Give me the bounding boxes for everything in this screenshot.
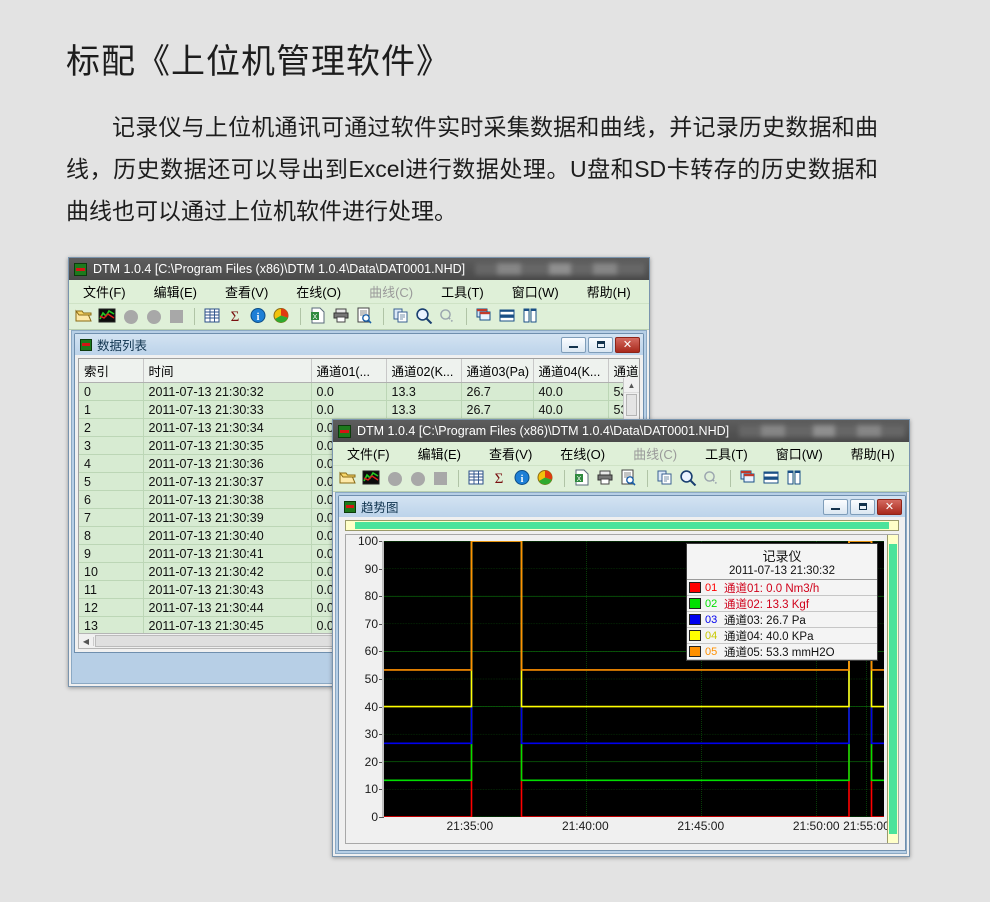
table-cell: 0.0	[311, 383, 386, 401]
window-title-text: DTM 1.0.4 [C:\Program Files (x86)\DTM 1.…	[357, 424, 729, 438]
toolbar-separator	[458, 470, 459, 487]
toolbar-separator	[564, 470, 565, 487]
y-axis-tick-label: 90	[365, 562, 378, 576]
table-cell: 2011-07-13 21:30:44	[143, 599, 311, 617]
table-cell: 2011-07-13 21:30:37	[143, 473, 311, 491]
x-axis-tick-label: 21:45:00	[677, 819, 724, 833]
info-icon[interactable]: i	[249, 307, 269, 326]
table-cell: 0	[79, 383, 143, 401]
tile-horizontal-icon[interactable]	[762, 469, 782, 488]
legend-color-swatch	[689, 598, 701, 609]
y-axis-tick-label: 100	[358, 534, 378, 548]
table-cell: 2011-07-13 21:30:36	[143, 455, 311, 473]
legend-row-02[interactable]: 02通道02: 13.3 Kgf	[687, 596, 877, 612]
table-cell: 26.7	[461, 383, 533, 401]
info-icon[interactable]: i	[513, 469, 533, 488]
table-cell: 2011-07-13 21:30:42	[143, 563, 311, 581]
legend-channel-number: 04	[705, 630, 720, 642]
toolbar-separator	[647, 470, 648, 487]
table-cell: 10	[79, 563, 143, 581]
curve-chart-icon[interactable]	[362, 469, 382, 488]
legend-color-swatch	[689, 630, 701, 641]
table-cell: 0.0	[311, 401, 386, 419]
print-preview-icon[interactable]	[619, 469, 639, 488]
legend-channel-text: 通道02: 13.3 Kgf	[724, 596, 809, 612]
table-cell: 9	[79, 545, 143, 563]
close-button[interactable]: ✕	[877, 499, 902, 515]
dtm-window-front[interactable]: DTM 1.0.4 [C:\Program Files (x86)\DTM 1.…	[332, 419, 910, 857]
svg-text:i: i	[521, 474, 524, 485]
legend-timestamp: 2011-07-13 21:30:32	[687, 565, 877, 580]
zoom-in-icon[interactable]	[679, 469, 699, 488]
y-axis: 0102030405060708090100	[346, 541, 378, 817]
copy-icon[interactable]	[656, 469, 676, 488]
column-header-3[interactable]: 通道02(K...	[386, 359, 461, 383]
table-cell: 12	[79, 599, 143, 617]
legend-channel-text: 通道04: 40.0 KPa	[724, 628, 814, 644]
toolbar[interactable]: ΣiX	[69, 304, 649, 330]
data-table-icon[interactable]	[203, 307, 223, 326]
scroll-left-arrow-icon[interactable]: ◀	[79, 637, 94, 646]
close-button[interactable]: ✕	[615, 337, 640, 353]
data-list-title-bar[interactable]: 数据列表 ✕	[75, 334, 643, 355]
menu-item-2[interactable]: 查看(V)	[475, 442, 546, 465]
tile-vertical-icon[interactable]	[785, 469, 805, 488]
legend-channel-text: 通道03: 26.7 Pa	[724, 612, 806, 628]
window-title-bar[interactable]: DTM 1.0.4 [C:\Program Files (x86)\DTM 1.…	[69, 258, 649, 280]
record-circle-icon[interactable]	[388, 472, 402, 486]
app-icon	[338, 425, 351, 438]
menu-item-7[interactable]: 帮助(H)	[837, 442, 909, 465]
y-axis-tick-label: 60	[365, 644, 378, 658]
mdi-client-area: 趋势图 ✕ 0102030405060708090100 21:35:0021:…	[335, 492, 907, 854]
stop-circle-icon[interactable]	[411, 472, 425, 486]
legend-row-04[interactable]: 04通道04: 40.0 KPa	[687, 628, 877, 644]
toolbar-separator	[466, 308, 467, 325]
zoom-out-icon[interactable]	[438, 307, 458, 326]
menu-item-2[interactable]: 查看(V)	[211, 280, 282, 303]
menu-item-5[interactable]: 工具(T)	[427, 280, 498, 303]
legend-channel-number: 02	[705, 598, 720, 610]
menu-item-4[interactable]: 曲线(C)	[619, 442, 691, 465]
x-axis-tick-label: 21:35:00	[446, 819, 493, 833]
print-icon[interactable]	[332, 307, 352, 326]
y-axis-tick-label: 20	[365, 755, 378, 769]
table-cell: 3	[79, 437, 143, 455]
column-header-1[interactable]: 时间	[143, 359, 311, 383]
app-icon	[344, 501, 356, 513]
legend-row-03[interactable]: 03通道03: 26.7 Pa	[687, 612, 877, 628]
table-cell: 5	[79, 473, 143, 491]
tile-horizontal-icon[interactable]	[498, 307, 518, 326]
menu-item-3[interactable]: 在线(O)	[282, 280, 355, 303]
menu-bar[interactable]: 文件(F)编辑(E)查看(V)在线(O)曲线(C)工具(T)窗口(W)帮助(H)	[69, 280, 649, 304]
menu-item-5[interactable]: 工具(T)	[691, 442, 762, 465]
menu-item-6[interactable]: 窗口(W)	[762, 442, 837, 465]
stop-square-icon[interactable]	[434, 472, 447, 485]
open-folder-icon[interactable]	[75, 307, 95, 326]
table-cell: 2011-07-13 21:30:40	[143, 527, 311, 545]
chart-area[interactable]: 0102030405060708090100 21:35:0021:40:002…	[345, 534, 899, 844]
toolbar-separator	[300, 308, 301, 325]
table-cell: 2011-07-13 21:30:39	[143, 509, 311, 527]
table-cell: 13	[79, 617, 143, 635]
table-cell: 4	[79, 455, 143, 473]
stop-circle-icon[interactable]	[147, 310, 161, 324]
legend-channel-text: 通道05: 53.3 mmH2O	[724, 644, 835, 660]
table-cell: 26.7	[461, 401, 533, 419]
copy-icon[interactable]	[392, 307, 412, 326]
trend-vertical-scrollbar[interactable]	[887, 535, 898, 843]
table-cell: 2011-07-13 21:30:32	[143, 383, 311, 401]
stop-square-icon[interactable]	[170, 310, 183, 323]
legend-channel-number: 05	[705, 646, 720, 658]
scrollbar-thumb[interactable]	[626, 394, 637, 416]
table-cell: 6	[79, 491, 143, 509]
legend-color-swatch	[689, 614, 701, 625]
y-axis-tick-label: 80	[365, 589, 378, 603]
sum-sigma-icon[interactable]: Σ	[490, 469, 510, 488]
table-cell: 13.3	[386, 383, 461, 401]
table-cell: 7	[79, 509, 143, 527]
x-axis-tick-label: 21:55:00	[843, 819, 890, 833]
zoom-in-icon[interactable]	[415, 307, 435, 326]
cascade-windows-icon[interactable]	[739, 469, 759, 488]
maximize-button[interactable]	[588, 337, 613, 353]
record-circle-icon[interactable]	[124, 310, 138, 324]
cascade-windows-icon[interactable]	[475, 307, 495, 326]
column-header-4[interactable]: 通道03(Pa)	[461, 359, 533, 383]
title-bar-blurred-area	[475, 263, 645, 275]
menu-item-1[interactable]: 编辑(E)	[404, 442, 475, 465]
legend-row-05[interactable]: 05通道05: 53.3 mmH2O	[687, 644, 877, 660]
y-axis-tick-label: 30	[365, 727, 378, 741]
trend-title-text: 趋势图	[361, 497, 399, 516]
window-title-text: DTM 1.0.4 [C:\Program Files (x86)\DTM 1.…	[93, 262, 465, 276]
table-cell: 40.0	[533, 401, 608, 419]
table-cell: 11	[79, 581, 143, 599]
table-row[interactable]: 02011-07-13 21:30:320.013.326.740.053.3	[79, 383, 640, 401]
chart-legend[interactable]: 记录仪 2011-07-13 21:30:32 01通道01: 0.0 Nm3/…	[686, 543, 878, 661]
menu-item-4[interactable]: 曲线(C)	[355, 280, 427, 303]
legend-row-01[interactable]: 01通道01: 0.0 Nm3/h	[687, 580, 877, 596]
menu-bar[interactable]: 文件(F)编辑(E)查看(V)在线(O)曲线(C)工具(T)窗口(W)帮助(H)	[333, 442, 909, 466]
table-cell: 8	[79, 527, 143, 545]
toolbar-separator	[383, 308, 384, 325]
svg-text:Σ: Σ	[231, 309, 240, 324]
data-list-title-text: 数据列表	[97, 335, 147, 354]
tile-vertical-icon[interactable]	[521, 307, 541, 326]
svg-text:Σ: Σ	[495, 471, 504, 486]
legend-channel-number: 03	[705, 614, 720, 626]
print-preview-icon[interactable]	[355, 307, 375, 326]
table-cell: 13.3	[386, 401, 461, 419]
curve-chart-icon[interactable]	[98, 307, 118, 326]
table-cell: 1	[79, 401, 143, 419]
scroll-up-arrow-icon[interactable]: ▲	[624, 378, 639, 393]
svg-text:X: X	[313, 314, 318, 321]
legend-title: 记录仪	[687, 544, 877, 565]
data-table-icon[interactable]	[467, 469, 487, 488]
table-cell: 2011-07-13 21:30:34	[143, 419, 311, 437]
menu-item-0[interactable]: 文件(F)	[333, 442, 404, 465]
menu-item-7[interactable]: 帮助(H)	[573, 280, 645, 303]
svg-text:X: X	[577, 476, 582, 483]
pie-chart-icon[interactable]	[536, 469, 556, 488]
table-cell: 2	[79, 419, 143, 437]
svg-text:i: i	[257, 312, 260, 323]
window-controls[interactable]: ✕	[561, 337, 643, 353]
page-title: 标配《上位机管理软件》	[66, 34, 451, 83]
table-cell: 2011-07-13 21:30:43	[143, 581, 311, 599]
toolbar-separator	[730, 470, 731, 487]
menu-item-3[interactable]: 在线(O)	[546, 442, 619, 465]
table-cell: 2011-07-13 21:30:35	[143, 437, 311, 455]
toolbar[interactable]: ΣiX	[333, 466, 909, 492]
legend-color-swatch	[689, 646, 701, 657]
page-description: 记录仪与上位机通讯可通过软件实时采集数据和曲线，并记录历史数据和曲线，历史数据还…	[66, 106, 878, 232]
table-cell: 40.0	[533, 383, 608, 401]
print-icon[interactable]	[596, 469, 616, 488]
y-axis-tick-label: 50	[365, 672, 378, 686]
column-header-0[interactable]: 索引	[79, 359, 143, 383]
sum-sigma-icon[interactable]: Σ	[226, 307, 246, 326]
menu-item-1[interactable]: 编辑(E)	[140, 280, 211, 303]
table-row[interactable]: 12011-07-13 21:30:330.013.326.740.053.3	[79, 401, 640, 419]
legend-color-swatch	[689, 582, 701, 593]
pie-chart-icon[interactable]	[272, 307, 292, 326]
excel-export-icon[interactable]: X	[309, 307, 329, 326]
legend-channel-text: 通道01: 0.0 Nm3/h	[724, 580, 819, 596]
y-axis-tick-label: 10	[365, 782, 378, 796]
y-axis-tick-label: 0	[371, 810, 378, 824]
table-cell: 2011-07-13 21:30:38	[143, 491, 311, 509]
table-header-row[interactable]: 索引时间通道01(...通道02(K...通道03(Pa)通道04(K...通道…	[79, 359, 640, 383]
menu-item-0[interactable]: 文件(F)	[69, 280, 140, 303]
column-header-5[interactable]: 通道04(K...	[533, 359, 608, 383]
app-icon	[74, 263, 87, 276]
legend-channel-number: 01	[705, 582, 720, 594]
trend-horizontal-scrollbar[interactable]	[345, 520, 899, 531]
table-cell: 2011-07-13 21:30:41	[143, 545, 311, 563]
zoom-out-icon[interactable]	[702, 469, 722, 488]
open-folder-icon[interactable]	[339, 469, 359, 488]
table-cell: 2011-07-13 21:30:45	[143, 617, 311, 635]
table-cell: 2011-07-13 21:30:33	[143, 401, 311, 419]
menu-item-6[interactable]: 窗口(W)	[498, 280, 573, 303]
x-axis: 21:35:0021:40:0021:45:0021:50:0021:55:00	[382, 819, 884, 839]
column-header-2[interactable]: 通道01(...	[311, 359, 386, 383]
trend-chart-window[interactable]: 趋势图 ✕ 0102030405060708090100 21:35:0021:…	[338, 495, 906, 851]
trend-title-bar[interactable]: 趋势图 ✕	[339, 496, 905, 517]
minimize-button[interactable]	[561, 337, 586, 353]
title-bar-blurred-area	[739, 425, 905, 437]
toolbar-separator	[194, 308, 195, 325]
y-axis-tick-label: 40	[365, 700, 378, 714]
y-axis-tick-label: 70	[365, 617, 378, 631]
x-axis-tick-label: 21:50:00	[793, 819, 840, 833]
window-controls[interactable]: ✕	[823, 499, 905, 515]
window-title-bar[interactable]: DTM 1.0.4 [C:\Program Files (x86)\DTM 1.…	[333, 420, 909, 442]
minimize-button[interactable]	[823, 499, 848, 515]
app-icon	[80, 339, 92, 351]
x-axis-tick-label: 21:40:00	[562, 819, 609, 833]
excel-export-icon[interactable]: X	[573, 469, 593, 488]
maximize-button[interactable]	[850, 499, 875, 515]
